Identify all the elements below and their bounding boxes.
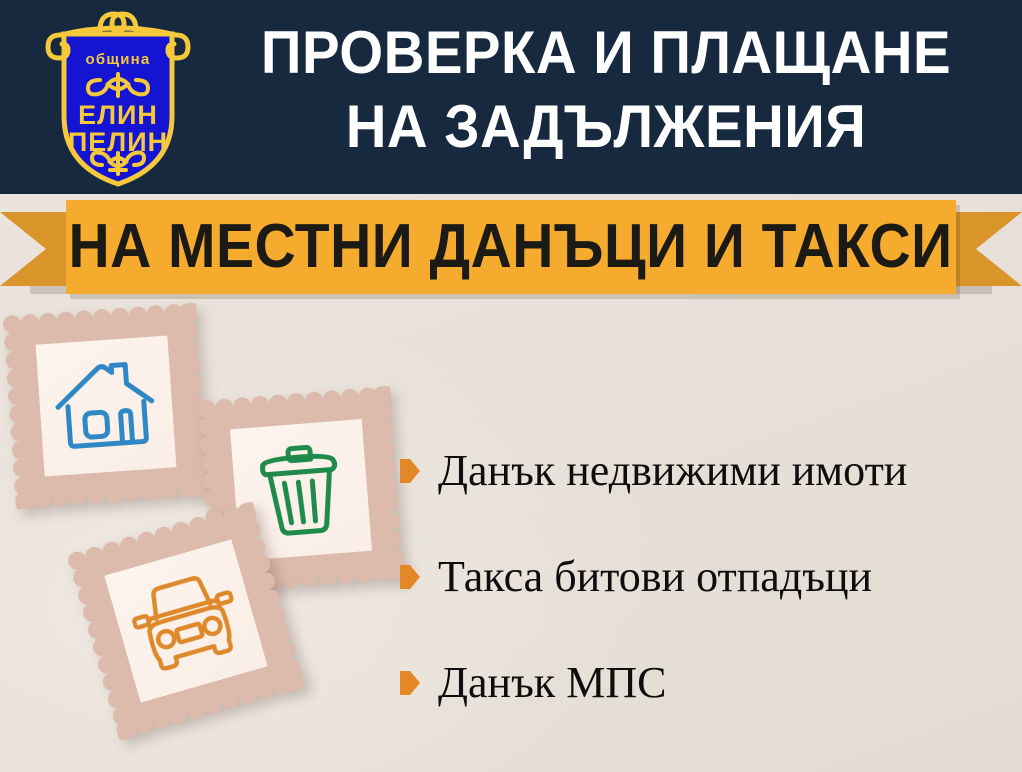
- stamp-inner-house: [36, 336, 177, 477]
- title-line-2: НА ЗАДЪЛЖЕНИЯ: [224, 90, 987, 164]
- ribbon-banner: НА МЕСТНИ ДАНЪЦИ И ТАКСИ: [66, 200, 956, 294]
- house-icon: [51, 354, 161, 457]
- car-front-icon: [124, 564, 248, 677]
- tax-type-list: Данък недвижими имоти Такса битови отпад…: [400, 418, 1010, 736]
- stamp-card-car: [77, 512, 295, 730]
- municipality-crest-logo: община ЕЛИН ПЕЛИН: [38, 8, 198, 188]
- header-bar: община ЕЛИН ПЕЛИН: [0, 0, 1022, 194]
- trash-bin-icon: [251, 439, 350, 542]
- list-item-label: Данък МПС: [438, 659, 666, 707]
- poster-root: община ЕЛИН ПЕЛИН: [0, 0, 1022, 772]
- bullet-arrow-icon: [400, 565, 420, 589]
- svg-text:община: община: [86, 51, 151, 68]
- svg-text:ЕЛИН: ЕЛИН: [78, 100, 158, 130]
- ribbon-label: НА МЕСТНИ ДАНЪЦИ И ТАКСИ: [69, 216, 953, 278]
- list-item[interactable]: Данък МПС: [400, 630, 1010, 736]
- bullet-arrow-icon: [400, 459, 420, 483]
- bullet-arrow-icon: [400, 671, 420, 695]
- page-title: ПРОВЕРКА И ПЛАЩАНЕ НА ЗАДЪЛЖЕНИЯ: [200, 16, 1012, 164]
- list-item[interactable]: Такса битови отпадъци: [400, 524, 1010, 630]
- list-item-label: Такса битови отпадъци: [438, 553, 872, 601]
- list-item-label: Данък недвижими имоти: [438, 447, 907, 495]
- stamp-card-house: [12, 312, 200, 500]
- subtitle-ribbon: НА МЕСТНИ ДАНЪЦИ И ТАКСИ: [0, 196, 1022, 300]
- list-item[interactable]: Данък недвижими имоти: [400, 418, 1010, 524]
- title-line-1: ПРОВЕРКА И ПЛАЩАНЕ: [224, 16, 987, 90]
